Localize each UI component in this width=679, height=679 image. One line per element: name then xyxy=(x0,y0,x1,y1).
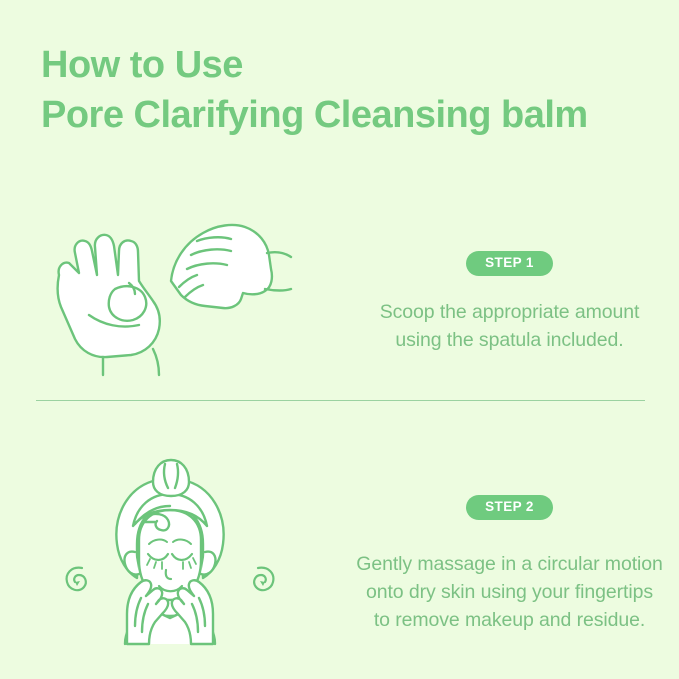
step-1-description-line-1: Scoop the appropriate amount xyxy=(380,298,640,326)
step-1-badge: STEP 1 xyxy=(466,251,553,276)
step-1-illustration xyxy=(0,203,340,378)
step-2-description-line-2: onto dry skin using your fingertips xyxy=(356,578,662,606)
step-2-description: Gently massage in a circular motion onto… xyxy=(356,550,662,634)
page-title: How to Use Pore Clarifying Cleansing bal… xyxy=(41,40,661,140)
step-2-text-block: STEP 2 Gently massage in a circular moti… xyxy=(340,461,679,634)
step-2-badge: STEP 2 xyxy=(466,495,553,520)
step-1-description: Scoop the appropriate amount using the s… xyxy=(380,298,640,354)
how-to-use-infographic: How to Use Pore Clarifying Cleansing bal… xyxy=(0,0,679,679)
step-2-description-line-1: Gently massage in a circular motion xyxy=(356,550,662,578)
step-1-description-line-2: using the spatula included. xyxy=(380,326,640,354)
step-2-section: STEP 2 Gently massage in a circular moti… xyxy=(0,440,679,655)
step-1-text-block: STEP 1 Scoop the appropriate amount usin… xyxy=(340,226,679,354)
step-2-illustration xyxy=(0,448,340,648)
hands-with-balm-icon xyxy=(45,203,295,378)
step-2-description-line-3: to remove makeup and residue. xyxy=(356,606,662,634)
page-title-line-2: Pore Clarifying Cleansing balm xyxy=(41,90,661,140)
face-massage-icon xyxy=(55,448,285,648)
page-title-line-1: How to Use xyxy=(41,40,661,90)
step-1-section: STEP 1 Scoop the appropriate amount usin… xyxy=(0,190,679,390)
section-divider xyxy=(36,400,645,401)
